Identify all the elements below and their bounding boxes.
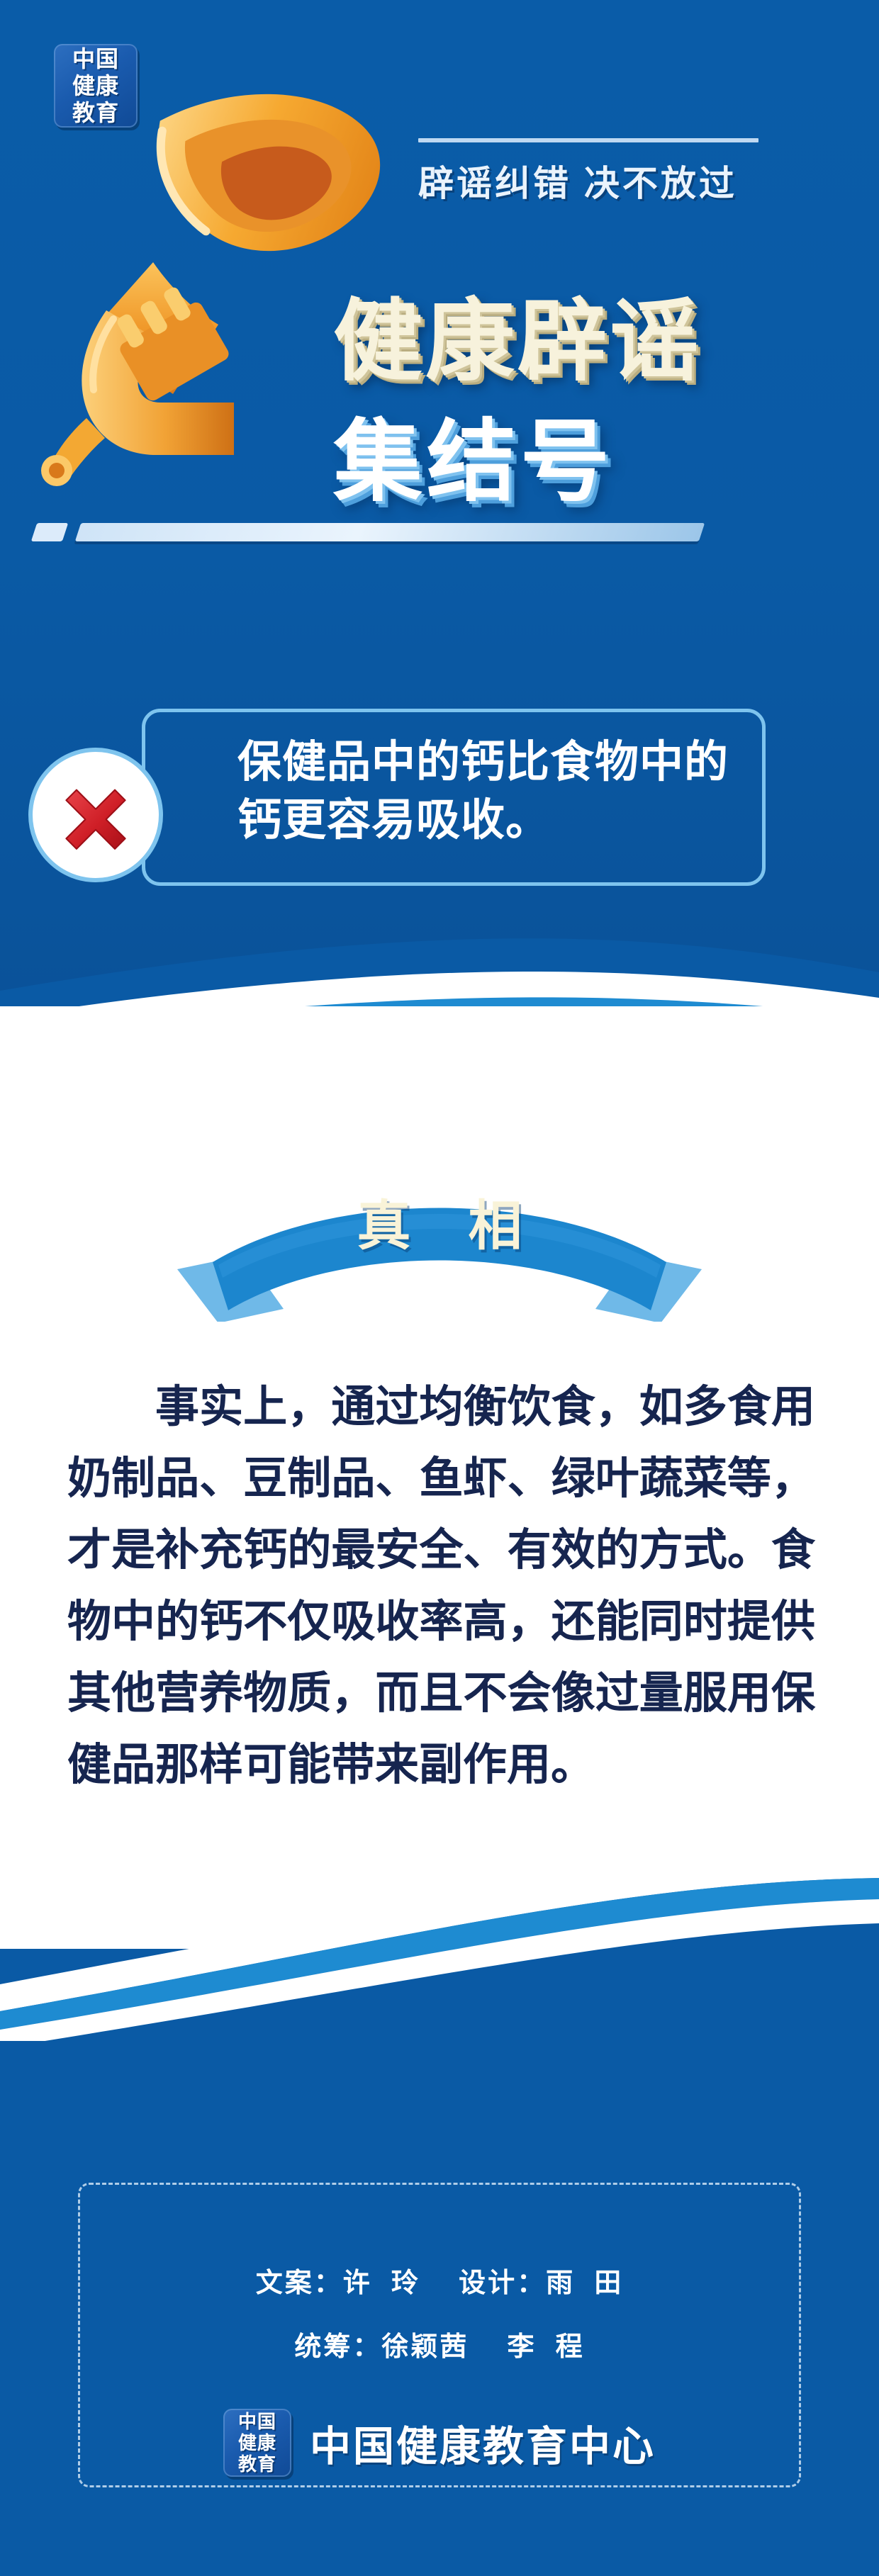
infographic-poster: 中国 健康 教育 辟谣纠错 决不放过 健康辟谣 集结号 保健品中的钙比食物中的钙… bbox=[0, 0, 879, 2576]
logo-line-2: 健康 bbox=[72, 74, 119, 97]
rumor-statement: 保健品中的钙比食物中的钙更容易吸收。 bbox=[237, 733, 755, 850]
credit-line-authors: 文案：许 玲 设计：雨 田 bbox=[78, 2261, 801, 2300]
footer-logo-line-1: 中国 bbox=[238, 2412, 276, 2431]
tagline-rule bbox=[418, 138, 758, 142]
truth-body-text: 事实上，通过均衡饮食，如多食用奶制品、豆制品、鱼虾、绿叶蔬菜等，才是补充钙的最安… bbox=[67, 1371, 815, 1801]
tagline-text: 辟谣纠错 决不放过 bbox=[418, 155, 787, 206]
brand-logo-badge: 中国 健康 教育 bbox=[54, 44, 138, 128]
footer-logo-line-2: 健康 bbox=[238, 2434, 276, 2452]
title-line-2: 集结号 bbox=[333, 390, 614, 519]
footer-logo-line-3: 教育 bbox=[238, 2455, 276, 2473]
header-section: 中国 健康 教育 辟谣纠错 决不放过 健康辟谣 集结号 保健品中的钙比食物中的钙… bbox=[0, 0, 879, 1006]
tagline-block: 辟谣纠错 决不放过 bbox=[418, 138, 787, 206]
footer-logo-row: 中国 健康 教育 中国健康教育中心 bbox=[78, 2397, 801, 2489]
wave-divider-bottom bbox=[0, 1878, 879, 2062]
red-cross-icon bbox=[28, 748, 163, 882]
credit-line-coordinators: 统筹：徐颖茜 李 程 bbox=[78, 2324, 801, 2363]
title-line-1: 健康辟谣 bbox=[333, 269, 702, 398]
footer-logo-badge: 中国 健康 教育 bbox=[223, 2409, 291, 2477]
title-underline-bar bbox=[75, 523, 705, 541]
truth-banner-label: 真 相 bbox=[177, 1182, 702, 1260]
footer-organization-name: 中国健康教育中心 bbox=[310, 2413, 656, 2473]
logo-line-3: 教育 bbox=[72, 101, 119, 124]
logo-line-1: 中国 bbox=[72, 47, 119, 70]
rumor-card: 保健品中的钙比食物中的钙更容易吸收。 bbox=[142, 709, 766, 886]
